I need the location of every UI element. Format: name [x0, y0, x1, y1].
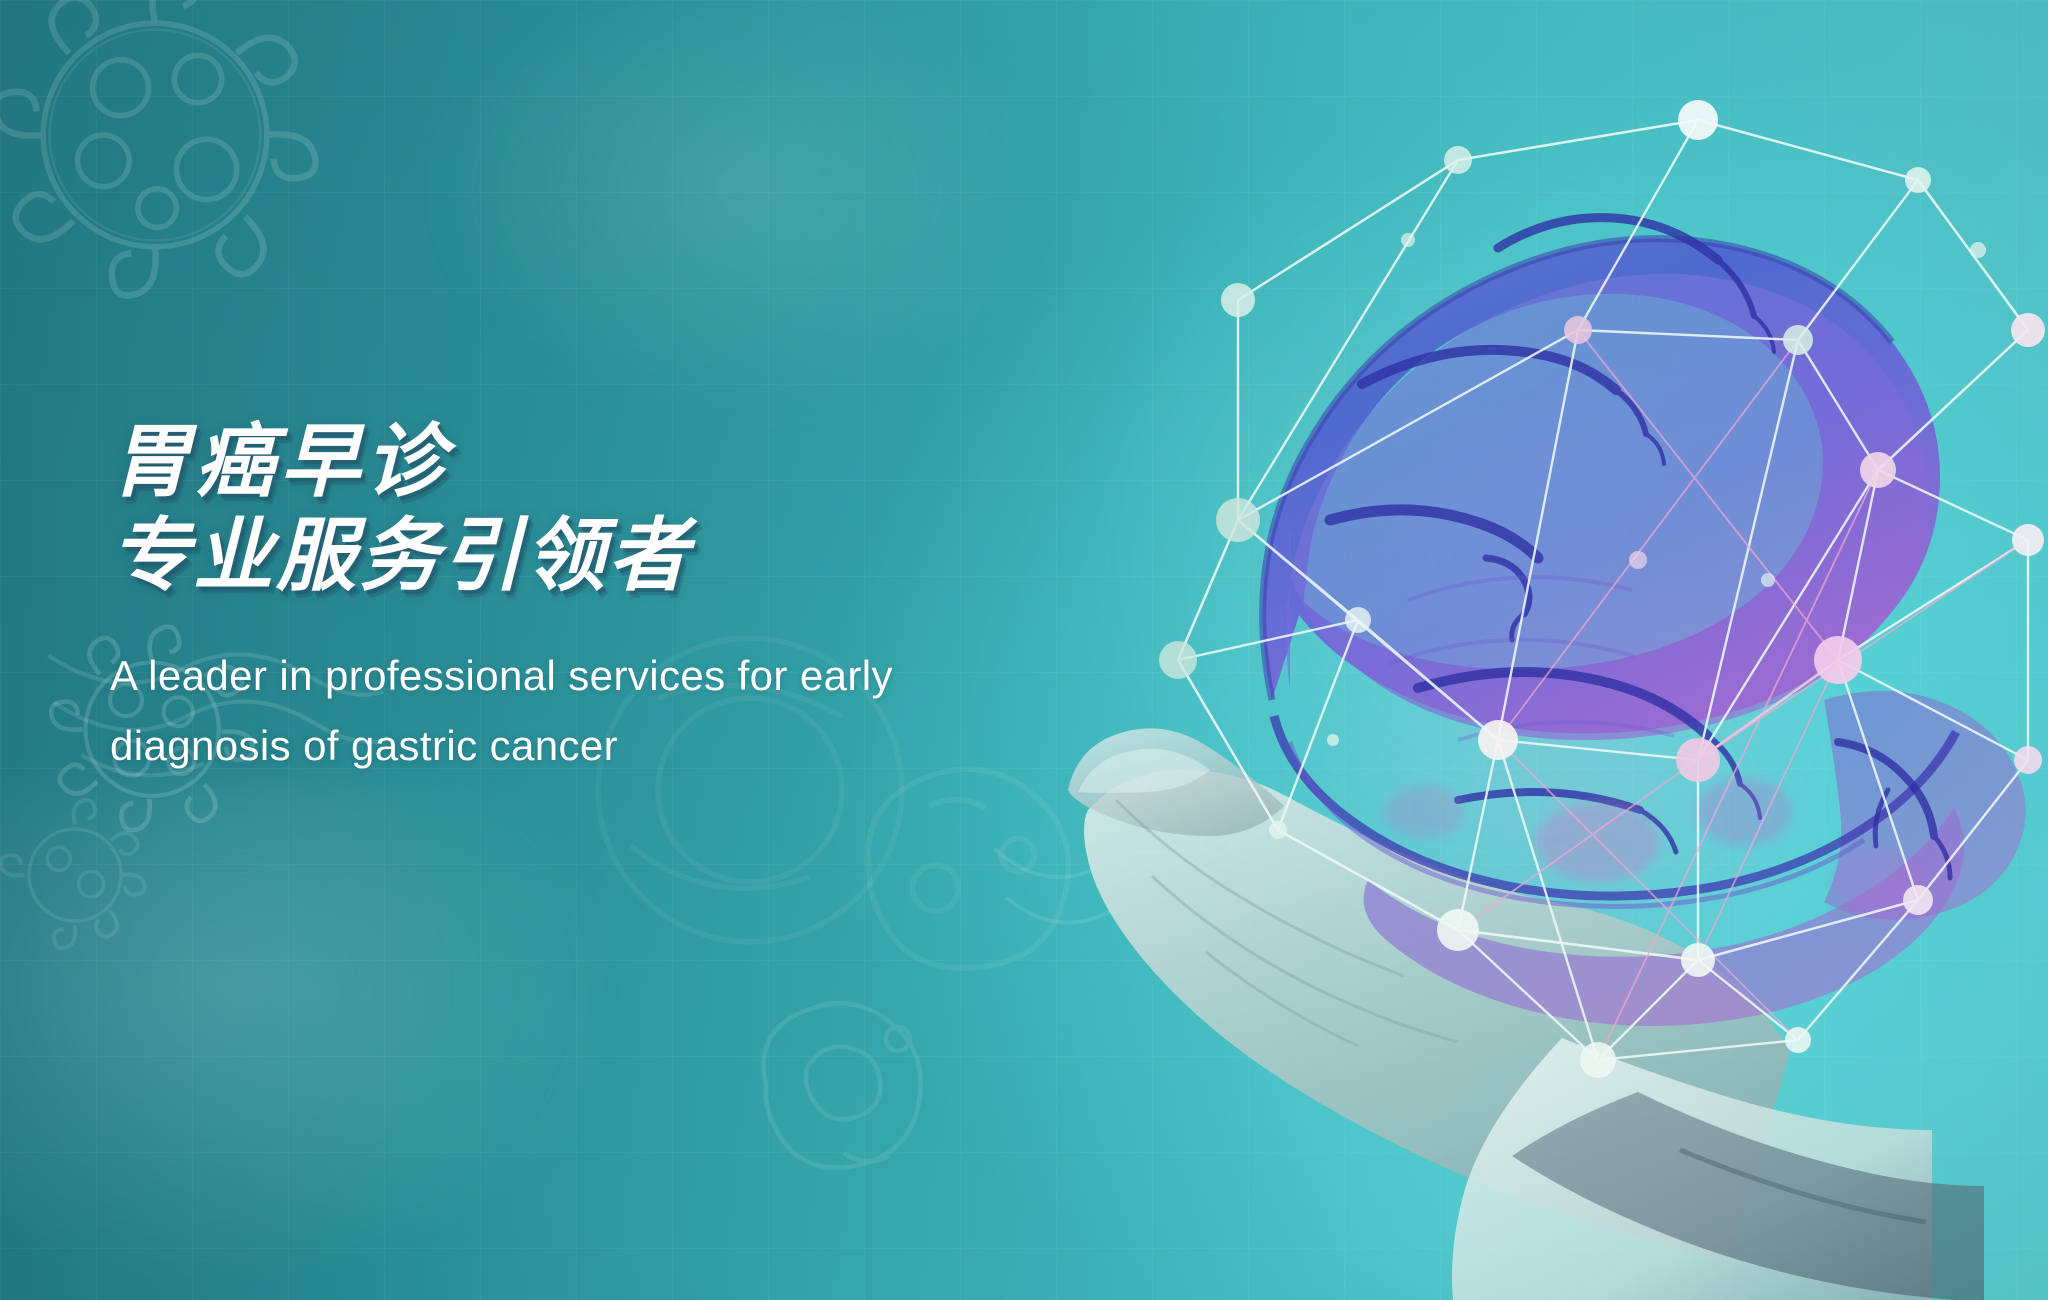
page-title: 胃癌早诊 专业服务引领者	[110, 415, 1200, 603]
hero-banner: 胃癌早诊 专业服务引领者 A leader in professional se…	[0, 0, 2048, 1300]
headline-line-2: 专业服务引领者	[110, 509, 1200, 603]
subtitle-line-1: A leader in professional services for ea…	[110, 641, 1120, 711]
headline-line-1: 胃癌早诊	[110, 415, 1200, 509]
subtitle-line-2: diagnosis of gastric cancer	[110, 711, 1120, 781]
page-subtitle: A leader in professional services for ea…	[110, 641, 1120, 781]
hero-copy: 胃癌早诊 专业服务引领者 A leader in professional se…	[110, 415, 1200, 781]
